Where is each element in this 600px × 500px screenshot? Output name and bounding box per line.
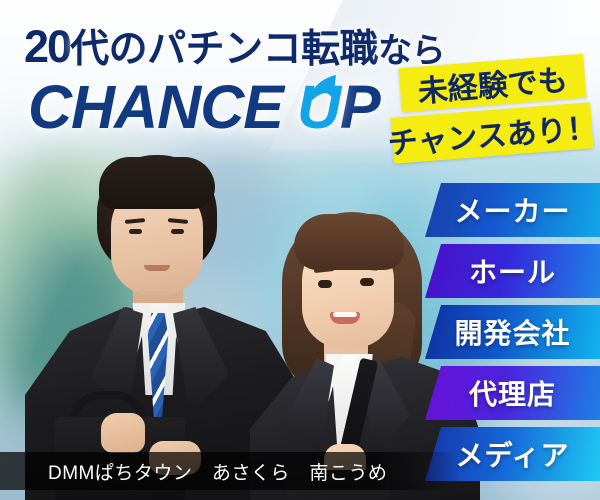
nav-item-agency[interactable]: 代理店: [425, 366, 600, 420]
caption-text: DMMぱちタウン あさくら 南こうめ: [0, 458, 387, 485]
nav-item-development-company[interactable]: 開発会社: [425, 305, 600, 359]
nav-item-hall[interactable]: ホール: [425, 244, 600, 298]
promo-banner: 20代のパチンコ転職なら CHANCEUP 未経験でも チャンスあり！ メーカー…: [0, 0, 600, 500]
category-nav-list: メーカー ホール 開発会社 代理店 メディア: [0, 0, 600, 500]
nav-item-maker[interactable]: メーカー: [425, 183, 600, 237]
caption-bar: DMMぱちタウン あさくら 南こうめ: [0, 452, 460, 490]
